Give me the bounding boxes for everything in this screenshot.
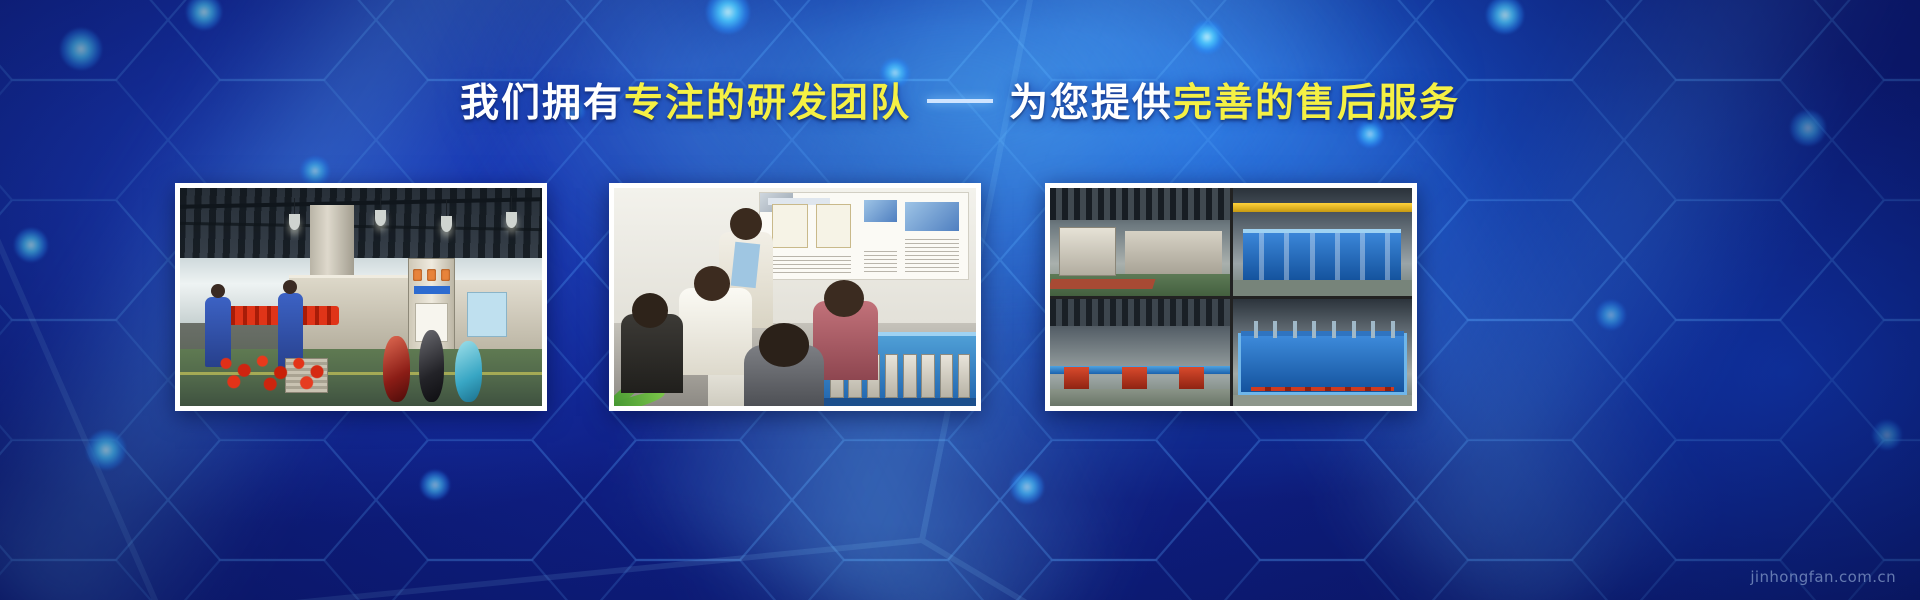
photo-card-equipment-collage[interactable] bbox=[1045, 183, 1417, 411]
person-head bbox=[632, 293, 668, 328]
photo-card-team-meeting[interactable] bbox=[609, 183, 981, 411]
photo-equipment-collage-image bbox=[1050, 188, 1412, 406]
person-head bbox=[694, 266, 730, 301]
headline-segment-2: 专注的研发团队 bbox=[624, 81, 911, 126]
photo-card-production-line[interactable] bbox=[175, 183, 547, 411]
promo-banner: 我们拥有专注的研发团队为您提供完善的售后服务 bbox=[0, 0, 1920, 600]
collage-quadrant-bottom-right bbox=[1233, 299, 1413, 407]
collage-quadrant-bottom-left bbox=[1050, 299, 1230, 407]
headline-segment-4: 为您提供 bbox=[1009, 81, 1173, 126]
photo-team-meeting-image bbox=[614, 188, 976, 406]
headline-segment-5: 完善的售后服务 bbox=[1173, 81, 1460, 126]
person bbox=[679, 288, 751, 375]
headline-dash bbox=[927, 99, 993, 103]
person-head bbox=[759, 323, 810, 367]
headline-segment-1: 我们拥有 bbox=[460, 81, 624, 126]
collage-quadrant-top-right bbox=[1233, 188, 1413, 296]
photo-production-line-image bbox=[180, 188, 542, 406]
headline: 我们拥有专注的研发团队为您提供完善的售后服务 bbox=[0, 84, 1920, 123]
site-watermark: jinhongfan.com.cn bbox=[1750, 568, 1896, 586]
photo-gallery bbox=[0, 183, 1920, 411]
person-head bbox=[824, 280, 864, 317]
collage-quadrant-top-left bbox=[1050, 188, 1230, 296]
